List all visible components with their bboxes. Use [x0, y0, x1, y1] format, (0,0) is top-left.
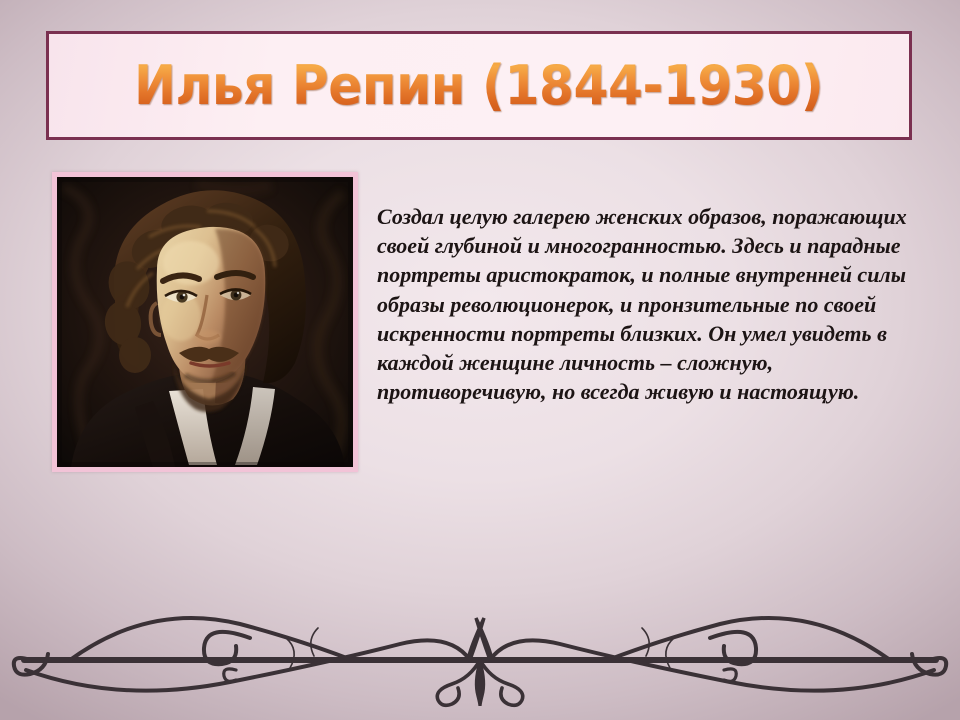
- title-panel: Илья Репин (1844-1930): [46, 31, 912, 140]
- page-title: Илья Репин (1844-1930): [134, 59, 823, 113]
- description-paragraph: Создал целую галерею женских образов, по…: [377, 202, 911, 406]
- flourish-divider-icon: [0, 604, 960, 708]
- portrait-frame: [52, 172, 358, 472]
- slide-canvas: Илья Репин (1844-1930): [0, 0, 960, 720]
- portrait-image: [57, 177, 353, 467]
